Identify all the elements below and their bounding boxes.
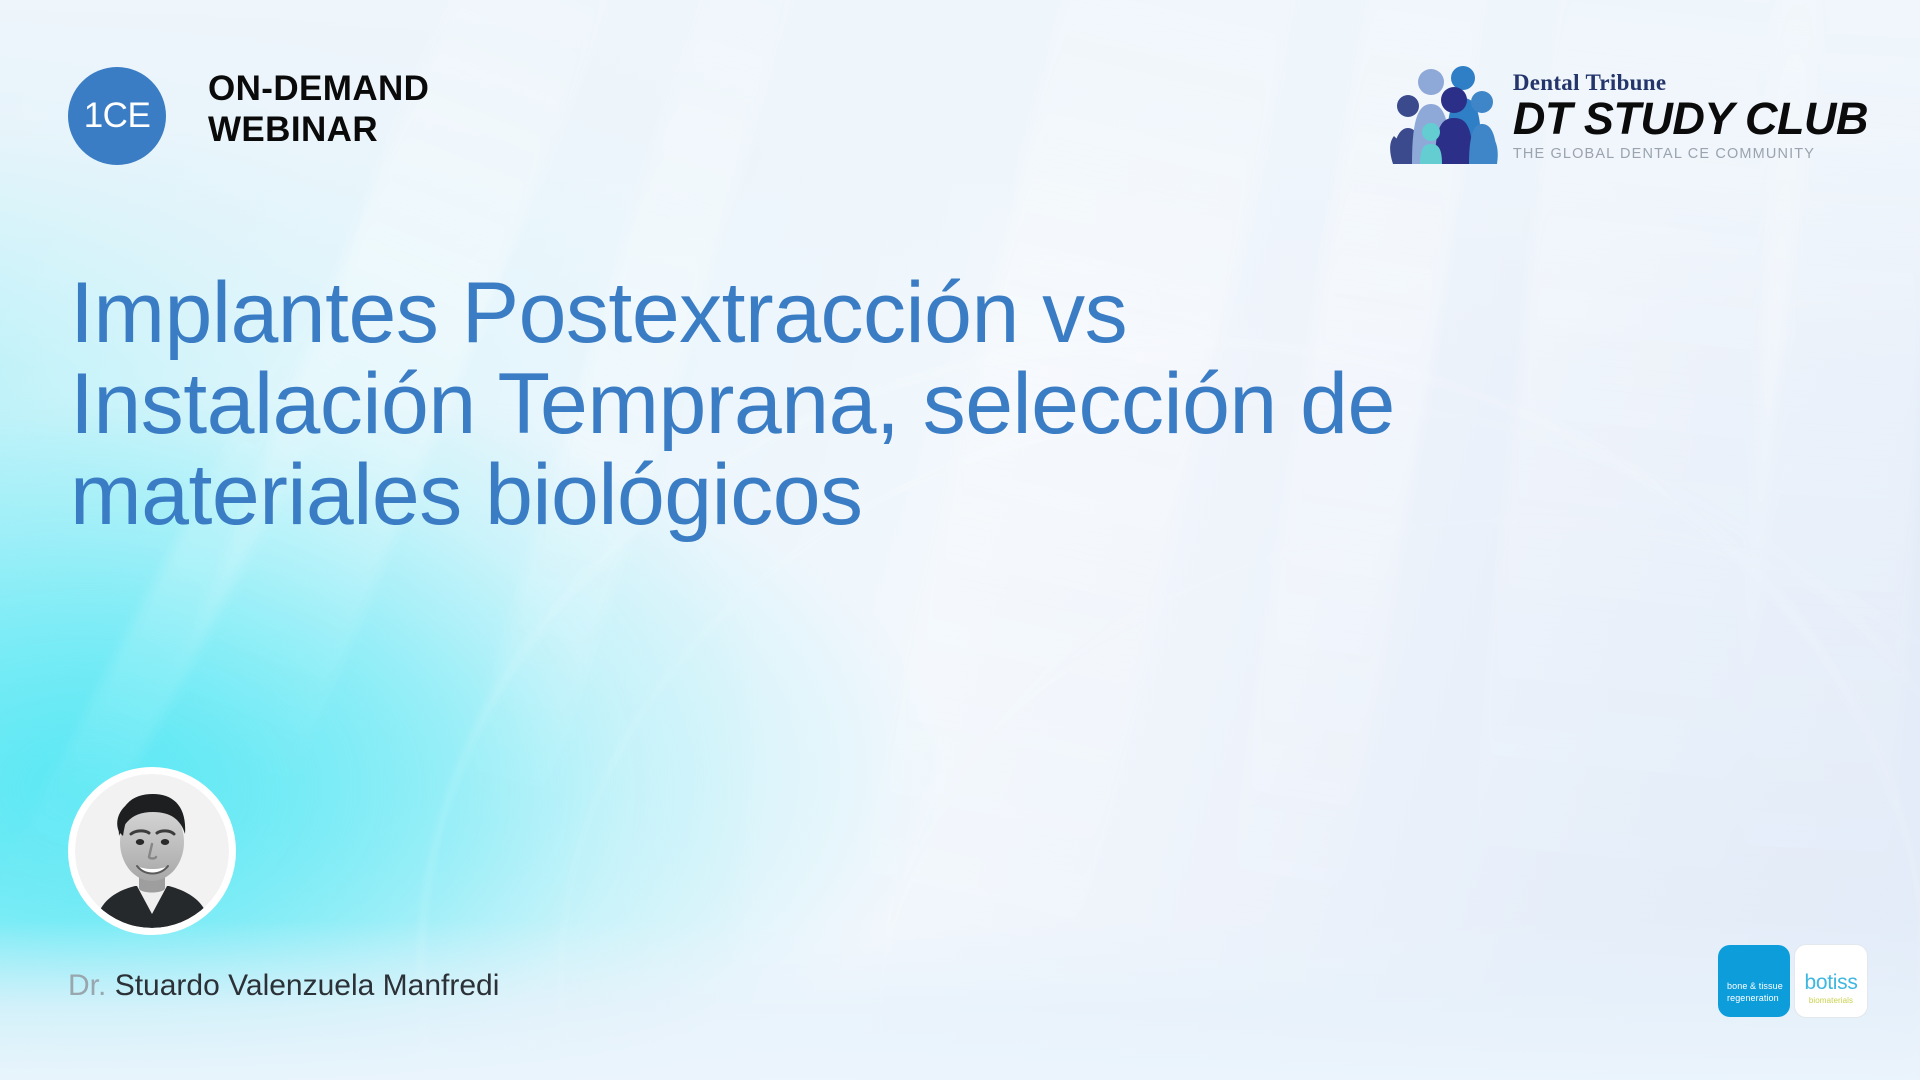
dental-tribune-word-1: Dental bbox=[1513, 70, 1580, 95]
kicker-line-1: ON-DEMAND bbox=[208, 68, 429, 109]
webinar-kicker: ON-DEMAND WEBINAR bbox=[208, 68, 429, 151]
botiss-wordmark-sub: biomaterials bbox=[1795, 996, 1867, 1005]
botiss-tagline-line-2: regeneration bbox=[1727, 992, 1783, 1004]
dt-logo-wordmark: Dental Tribune DT STUDY CLUB THE GLOBAL … bbox=[1513, 71, 1868, 164]
avatar bbox=[68, 767, 236, 935]
speaker-name: Dr. Stuardo Valenzuela Manfredi bbox=[68, 969, 499, 1003]
title-line-2: Instalación Temprana, selección de bbox=[70, 359, 1770, 450]
botiss-wordmark: botiss bbox=[1795, 971, 1867, 995]
botiss-sponsor-logo: bone & tissue regeneration botiss biomat… bbox=[1718, 944, 1868, 1018]
speaker-fullname: Stuardo Valenzuela Manfredi bbox=[115, 969, 500, 1002]
botiss-tagline-line-1: bone & tissue bbox=[1727, 980, 1783, 992]
page-title: Implantes Postextracción vs Instalación … bbox=[70, 268, 1770, 541]
botiss-tagline: bone & tissue regeneration bbox=[1727, 980, 1783, 1004]
speaker-honorific: Dr. bbox=[68, 969, 106, 1002]
avatar-photo bbox=[75, 774, 229, 928]
dt-tagline: THE GLOBAL DENTAL CE COMMUNITY bbox=[1513, 146, 1868, 162]
dt-study-club-logo: Dental Tribune DT STUDY CLUB THE GLOBAL … bbox=[1387, 60, 1868, 164]
botiss-tagline-tile: bone & tissue regeneration bbox=[1718, 945, 1790, 1017]
dental-tribune-wordmark: Dental Tribune bbox=[1513, 71, 1868, 94]
ce-credits-label: 1CE bbox=[84, 96, 151, 136]
title-line-3: materiales biológicos bbox=[70, 450, 1770, 541]
webinar-promo-slide: 1CE ON-DEMAND WEBINAR bbox=[0, 0, 1920, 1080]
ce-credits-badge: 1CE bbox=[68, 67, 166, 165]
botiss-wordmark-card: botiss biomaterials bbox=[1794, 944, 1868, 1018]
speaker-portrait-icon bbox=[75, 774, 229, 928]
people-group-icon bbox=[1387, 60, 1499, 164]
kicker-line-2: WEBINAR bbox=[208, 109, 429, 150]
dt-study-club-wordmark: DT STUDY CLUB bbox=[1513, 96, 1868, 142]
dental-tribune-word-2: Tribune bbox=[1585, 70, 1666, 95]
title-line-1: Implantes Postextracción vs bbox=[70, 268, 1770, 359]
